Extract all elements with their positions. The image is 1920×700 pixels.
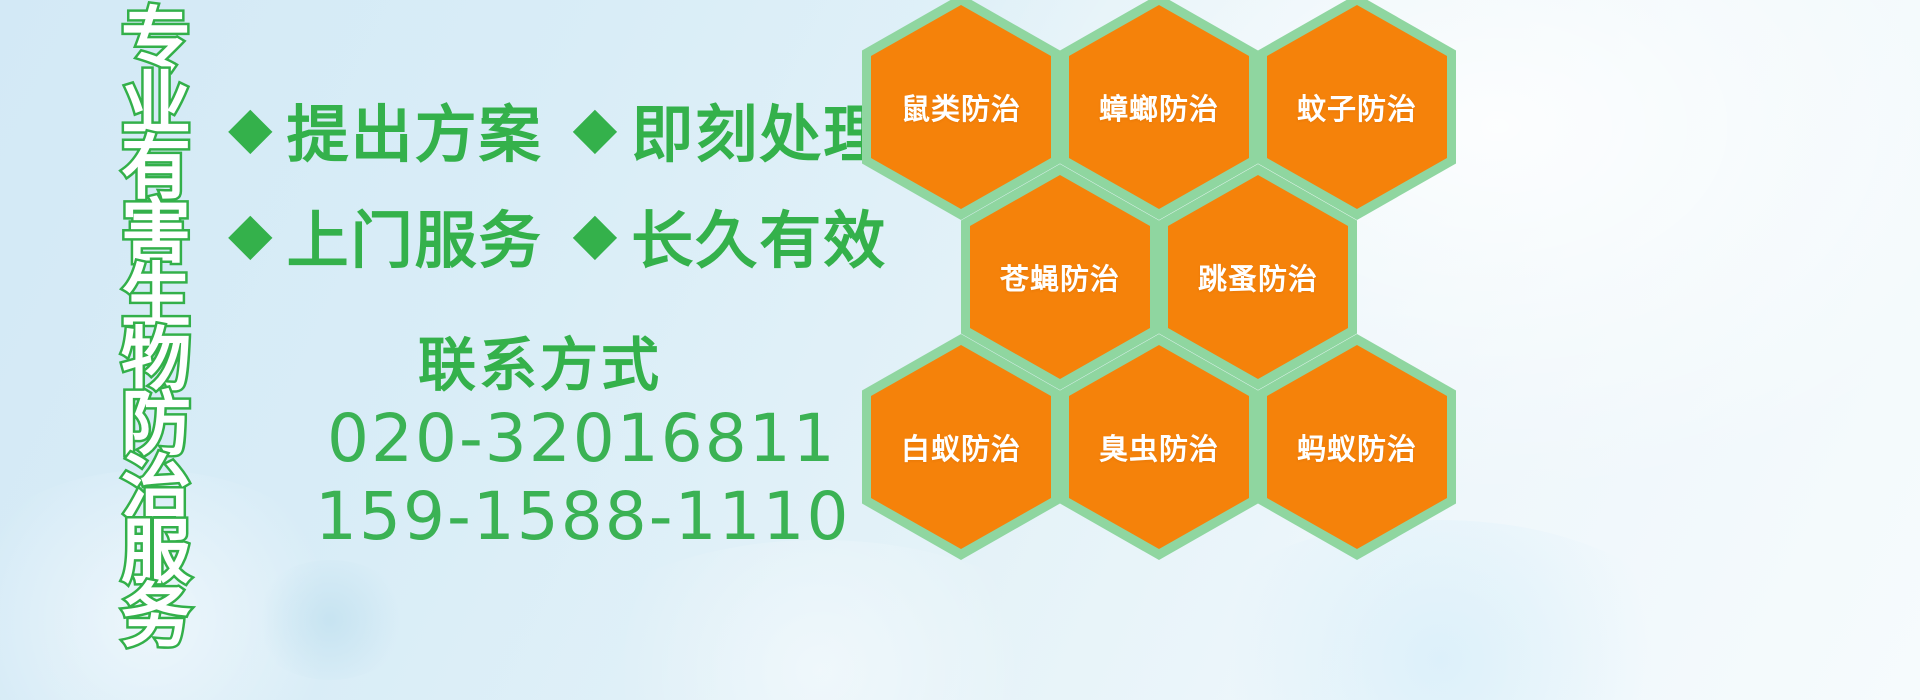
vertical-headline-char: 务 [121, 584, 191, 648]
hex-inner-fill: 鼠类防治 [871, 5, 1051, 209]
service-hex-label: 苍蝇防治 [1000, 256, 1120, 298]
vertical-headline: 专 业 有 害 生 物 防 治 服 务 [104, 8, 208, 618]
feature-label: 即刻处理 [631, 84, 887, 174]
feature-row-1: ◆ 提出方案 ◆ 即刻处理 [228, 84, 887, 174]
background-blob [560, 540, 1080, 700]
background-blob [1180, 520, 1700, 700]
service-hex-label: 蟑螂防治 [1099, 86, 1219, 128]
diamond-bullet-icon: ◆ [573, 204, 618, 262]
service-hex-label: 鼠类防治 [901, 86, 1021, 128]
feature-row-2: ◆ 上门服务 ◆ 长久有效 [228, 190, 887, 280]
hex-inner-fill: 蚂蚁防治 [1267, 345, 1447, 549]
service-honeycomb: 鼠类防治 蟑螂防治 蚊子防治 苍蝇防治 跳蚤防治 白蚁防治 [856, 0, 1476, 546]
contact-heading: 联系方式 [418, 318, 662, 402]
diamond-bullet-icon: ◆ [573, 98, 618, 156]
pest-control-banner: 专 业 有 害 生 物 防 治 服 务 ◆ 提出方案 ◆ 即刻处理 ◆ 上门服务… [0, 0, 1920, 700]
hex-inner-fill: 跳蚤防治 [1168, 175, 1348, 379]
service-hex-label: 臭虫防治 [1099, 426, 1219, 468]
phone-number-landline[interactable]: 020-32016811 [327, 400, 837, 477]
service-hex-label: 蚊子防治 [1297, 86, 1417, 128]
hex-inner-fill: 蚊子防治 [1267, 5, 1447, 209]
phone-number-mobile[interactable]: 159-1588-1110 [315, 478, 851, 555]
feature-label: 提出方案 [287, 84, 543, 174]
service-hex-label: 白蚁防治 [901, 426, 1021, 468]
background-blob [250, 560, 410, 680]
service-hex-label: 跳蚤防治 [1198, 256, 1318, 298]
hex-inner-fill: 蟑螂防治 [1069, 5, 1249, 209]
feature-label: 长久有效 [631, 190, 887, 280]
feature-label: 上门服务 [287, 190, 543, 280]
hex-inner-fill: 苍蝇防治 [970, 175, 1150, 379]
hex-inner-fill: 白蚁防治 [871, 345, 1051, 549]
service-hex-label: 蚂蚁防治 [1297, 426, 1417, 468]
hex-inner-fill: 臭虫防治 [1069, 345, 1249, 549]
diamond-bullet-icon: ◆ [228, 204, 273, 262]
diamond-bullet-icon: ◆ [228, 98, 273, 156]
